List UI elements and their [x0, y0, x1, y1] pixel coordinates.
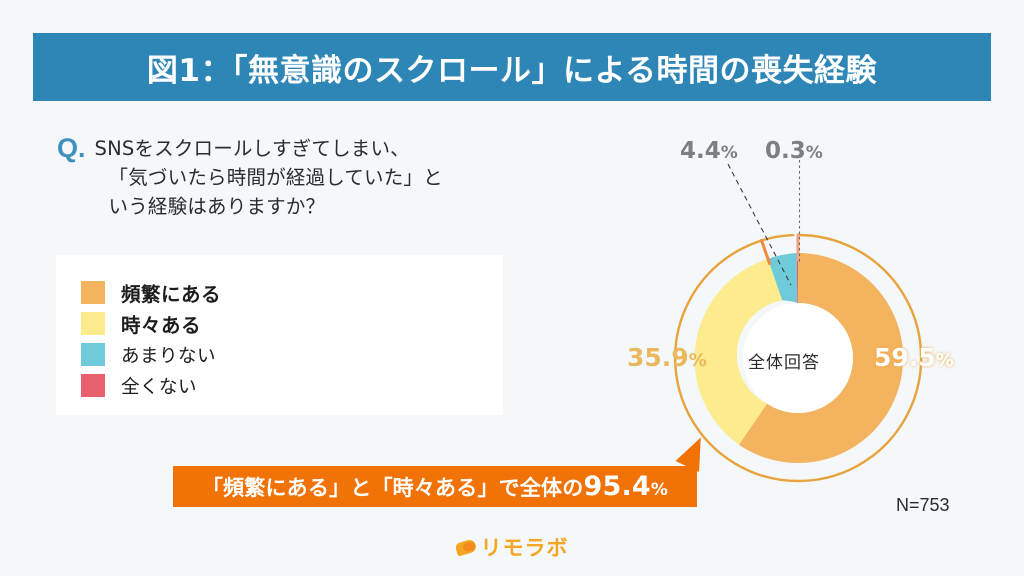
- question-line-1: SNSをスクロールしすぎてしまい、: [95, 134, 443, 163]
- legend-item-frequent: 頻繁にある: [81, 277, 503, 308]
- chart-label-rarely: 4.4%: [680, 138, 738, 164]
- callout-value: 95.4: [583, 471, 650, 502]
- legend-swatch-red: [81, 374, 105, 397]
- question-line-2: 「気づいたら時間が経過していた」と: [95, 163, 443, 192]
- page-title: 図1：「無意識のスクロール」による時間の喪失経験: [147, 45, 877, 90]
- header-bar: 図1：「無意識のスクロール」による時間の喪失経験: [33, 33, 991, 101]
- legend-label-rarely: あまりない: [121, 342, 216, 368]
- legend-swatch-teal: [81, 343, 105, 366]
- legend-label-never: 全くない: [121, 373, 197, 399]
- logo-mascot-icon: [454, 538, 477, 556]
- donut-center-label: 全体回答: [748, 348, 820, 373]
- callout-banner: 「頻繁にある」と「時々ある」で全体の95.4%: [173, 466, 697, 507]
- chart-label-never: 0.3%: [765, 138, 823, 164]
- callout-unit: %: [651, 480, 668, 500]
- callout-prefix: 「頻繁にある」と「時々ある」で全体の: [202, 476, 584, 500]
- question-marker: Q.: [57, 134, 86, 162]
- question-line-3: いう経験はありますか？: [95, 192, 443, 221]
- legend-label-frequent: 頻繁にある: [121, 278, 221, 307]
- question-block: Q. SNSをスクロールしすぎてしまい、 「気づいたら時間が経過していた」と い…: [57, 134, 577, 221]
- infographic-page: 図1：「無意識のスクロール」による時間の喪失経験 Q. SNSをスクロールしすぎ…: [0, 0, 1024, 576]
- footer-logo: リモラボ: [0, 532, 1024, 562]
- chart-label-frequent: 59.5%: [874, 343, 954, 372]
- chart-label-sometimes: 35.9%: [627, 343, 707, 372]
- question-text: SNSをスクロールしすぎてしまい、 「気づいたら時間が経過していた」と いう経験…: [95, 134, 443, 221]
- legend-item-sometimes: 時々ある: [81, 308, 503, 339]
- legend-swatch-yellow: [81, 312, 105, 335]
- legend-box: 頻繁にある 時々ある あまりない 全くない: [56, 255, 503, 415]
- legend-item-never: 全くない: [81, 370, 503, 401]
- legend-item-rarely: あまりない: [81, 339, 503, 370]
- callout-text: 「頻繁にある」と「時々ある」で全体の95.4%: [202, 471, 668, 502]
- sample-size-label: N=753: [896, 495, 950, 516]
- legend-label-sometimes: 時々ある: [121, 309, 201, 338]
- donut-chart: 4.4% 0.3% 59.5% 35.9% 全体回答: [620, 130, 1000, 500]
- logo-text: リモラボ: [481, 532, 569, 562]
- legend-swatch-orange: [81, 281, 105, 304]
- donut-chart-svg: [620, 130, 1000, 500]
